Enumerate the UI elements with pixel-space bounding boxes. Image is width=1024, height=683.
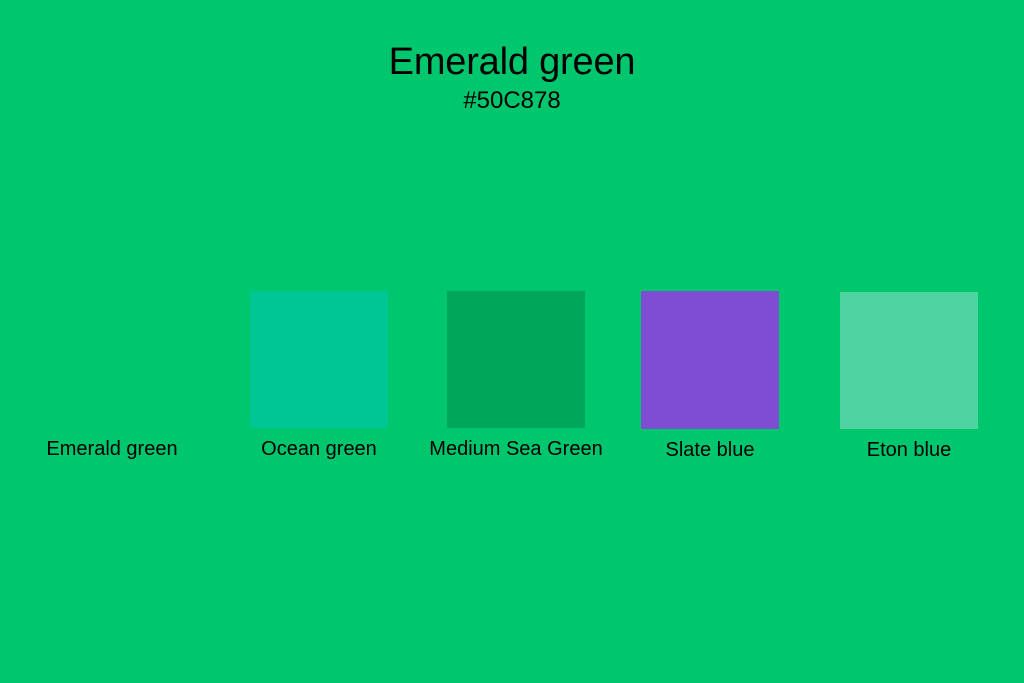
swatch-label: Emerald green <box>19 436 205 462</box>
swatch-chip[interactable] <box>840 292 978 429</box>
swatch-chip[interactable] <box>641 291 779 429</box>
swatch-cell-eton-blue[interactable]: Eton blue <box>816 291 1002 471</box>
swatch-cell-ocean-green[interactable]: Ocean green <box>226 291 412 471</box>
color-palette-page: Emerald green #50C878 Emerald green Ocea… <box>0 0 1024 683</box>
swatch-chip[interactable] <box>447 291 585 428</box>
palette-header: Emerald green #50C878 <box>0 40 1024 116</box>
swatch-label: Medium Sea Green <box>423 436 609 462</box>
page-title: Emerald green <box>0 40 1024 84</box>
swatch-cell-medium-sea-green[interactable]: Medium Sea Green <box>423 291 609 471</box>
swatch-label: Slate blue <box>617 437 803 463</box>
swatch-row: Emerald green Ocean green Medium Sea Gre… <box>0 291 1024 471</box>
swatch-label: Ocean green <box>226 436 412 462</box>
swatch-cell-slate-blue[interactable]: Slate blue <box>617 291 803 471</box>
swatch-label: Eton blue <box>816 437 1002 463</box>
swatch-chip[interactable] <box>250 291 388 428</box>
page-hex-code: #50C878 <box>0 86 1024 116</box>
swatch-cell-emerald-green[interactable]: Emerald green <box>19 291 205 471</box>
